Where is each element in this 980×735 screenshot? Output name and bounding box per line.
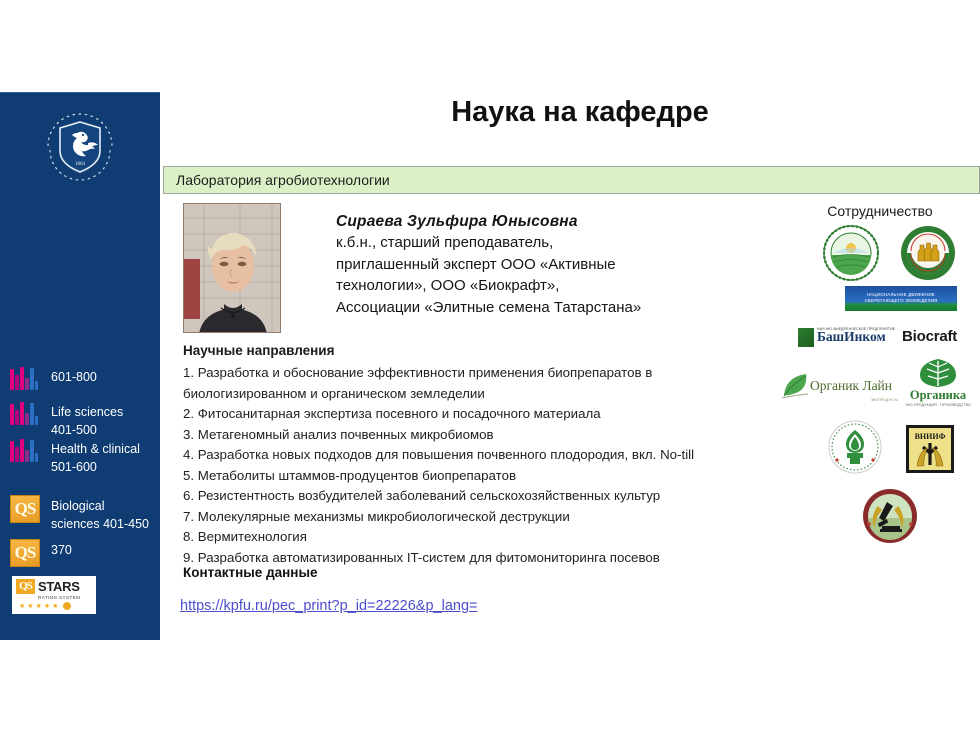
star-icon: ★ [44,602,50,610]
research-directions-list: 1. Разработка и обоснование эффективност… [183,363,741,568]
research-heading: Научные направления [183,343,334,358]
person-title-line: приглашенный эксперт ООО «Активные [336,254,766,276]
bioinstitute-circle-logo [828,420,882,474]
person-title-line: технологии», ООО «Биокрафт», [336,275,766,297]
the-logo-icon [10,438,38,462]
research-item: 1. Разработка и обоснование эффективност… [183,363,741,404]
national-movement-label: НАЦИОНАЛЬНОЕ ДВИЖЕНИЕ СБЕРЕГАЮЩЕГО ЗЕМЛЕ… [865,292,938,303]
star-icon: ★ [27,602,33,610]
ranking-value: 370 [51,539,72,559]
leaf-icon [780,371,810,401]
qs-logo-icon: QS [10,539,40,567]
organika-label: Органика [905,388,971,403]
organika-tagline: ЭКО ПРОДУКЦИЯ · ПРОИЗВОДСТВО [905,403,971,407]
bashinkom-label: БашИнком [817,329,886,345]
portrait-photo [183,203,281,333]
the-logo-icon [10,366,38,390]
qs-logo-icon: QS [10,495,40,523]
research-item: 2. Фитосанитарная экспертиза посевного и… [183,404,741,425]
organika-logo: Органика ЭКО ПРОДУКЦИЯ · ПРОИЗВОДСТВО [905,358,971,408]
svg-text:1804: 1804 [75,162,86,167]
organika-leaf-icon [918,358,958,388]
ranking-value: Health & clinical 501-600 [51,438,140,476]
person-info: Сираева Зульфира Юнысовна к.б.н., старши… [336,213,766,318]
star-icon: ★ [36,602,42,610]
star-icon: ★ [52,602,58,610]
research-item: 8. Вермитехнология [183,527,741,548]
bashinkom-logo: НАУЧНО-ВНЕДРЕНЧЕСКОЕ ПРЕДПРИЯТИЕ БашИнко… [798,325,896,349]
bashinkom-tagline: НАУЧНО-ВНЕДРЕНЧЕСКОЕ ПРЕДПРИЯТИЕ [817,327,895,331]
page-title: Наука на кафедре [180,96,980,129]
organik-line-tagline: ЭКОПРОДУКТЫ [871,398,898,402]
qs-stars-badge: QS STARS RATING SYSTEM ★ ★ ★ ★ ★ [12,576,96,614]
biocraft-logo: Biocraft [902,328,957,345]
star-dot-icon [63,602,71,610]
slide-canvas: 1804 601-800 Life sciences 401-500 Healt… [0,0,980,735]
research-item: 5. Метаболиты штаммов-продуцентов биопре… [183,466,741,487]
star-icon: ★ [19,602,25,610]
bashinkom-mark-icon [798,328,814,347]
ranking-qs-overall: QS 370 [10,539,72,567]
organik-line-logo: Органик Лайн ЭКОПРОДУКТЫ [780,369,900,403]
national-movement-logo: НАЦИОНАЛЬНОЕ ДВИЖЕНИЕ СБЕРЕГАЮЩЕГО ЗЕМЛЕ… [845,286,957,311]
research-item: 4. Разработка новых подходов для повышен… [183,445,741,466]
svg-text:ВНИИФ: ВНИИФ [915,432,946,441]
green-ring-bottles-logo [900,225,956,281]
qs-stars-mark: QS [16,579,35,594]
ranking-value: 601-800 [51,366,97,386]
ranking-the-life-sciences: Life sciences 401-500 [10,401,123,439]
microscope-research-logo [862,488,918,544]
ranking-the-overall: 601-800 [10,366,97,390]
qs-stars-rating: ★ ★ ★ ★ ★ [16,602,92,610]
qs-stars-subtitle: RATING SYSTEM [38,595,92,600]
agro-field-circle-logo [823,225,879,281]
ranking-value: Biological sciences 401-450 [51,495,149,533]
person-name: Сираева Зульфира Юнысовна [336,213,766,231]
lab-banner-label: Лаборатория агробиотехнологии [176,172,390,188]
qs-stars-word: STARS [38,579,80,594]
person-title-line: Ассоциации «Элитные семена Татарстана» [336,297,766,319]
partners-heading: Сотрудничество [780,203,980,219]
contact-heading: Контактные данные [183,565,318,580]
lab-banner: Лаборатория агробиотехнологии [163,166,980,194]
kpfu-emblem: 1804 [36,102,124,190]
organik-line-label: Органик Лайн [810,378,892,394]
vniif-logo: ВНИИФ [906,425,954,473]
person-title-line: к.б.н., старший преподаватель, [336,232,766,254]
contact-link[interactable]: https://kpfu.ru/pec_print?p_id=22226&p_l… [180,598,477,614]
research-item: 7. Молекулярные механизмы микробиологиче… [183,507,741,528]
the-logo-icon [10,401,38,425]
ranking-the-health-clinical: Health & clinical 501-600 [10,438,140,476]
research-item: 6. Резистентность возбудителей заболеван… [183,486,741,507]
ranking-qs-biological-sciences: QS Biological sciences 401-450 [10,495,149,533]
left-sidebar: 1804 601-800 Life sciences 401-500 Healt… [0,92,160,640]
ranking-value: Life sciences 401-500 [51,401,123,439]
research-item: 3. Метагеномный анализ почвенных микроби… [183,425,741,446]
